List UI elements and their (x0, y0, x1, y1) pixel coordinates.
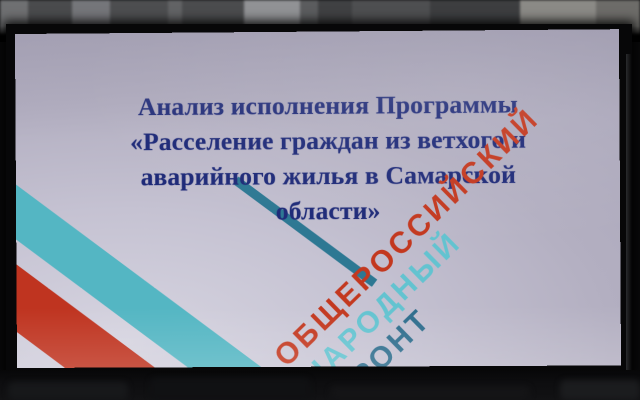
bezel-edge-highlight (626, 54, 631, 390)
photo-frame: Анализ исполнения Программы «Расселение … (0, 0, 640, 400)
desk-object-1 (8, 382, 128, 400)
desk-object-3 (330, 386, 530, 400)
desk-object-4 (560, 380, 640, 400)
desk-object-2 (150, 378, 310, 400)
presentation-screen: Анализ исполнения Программы «Расселение … (15, 29, 621, 368)
